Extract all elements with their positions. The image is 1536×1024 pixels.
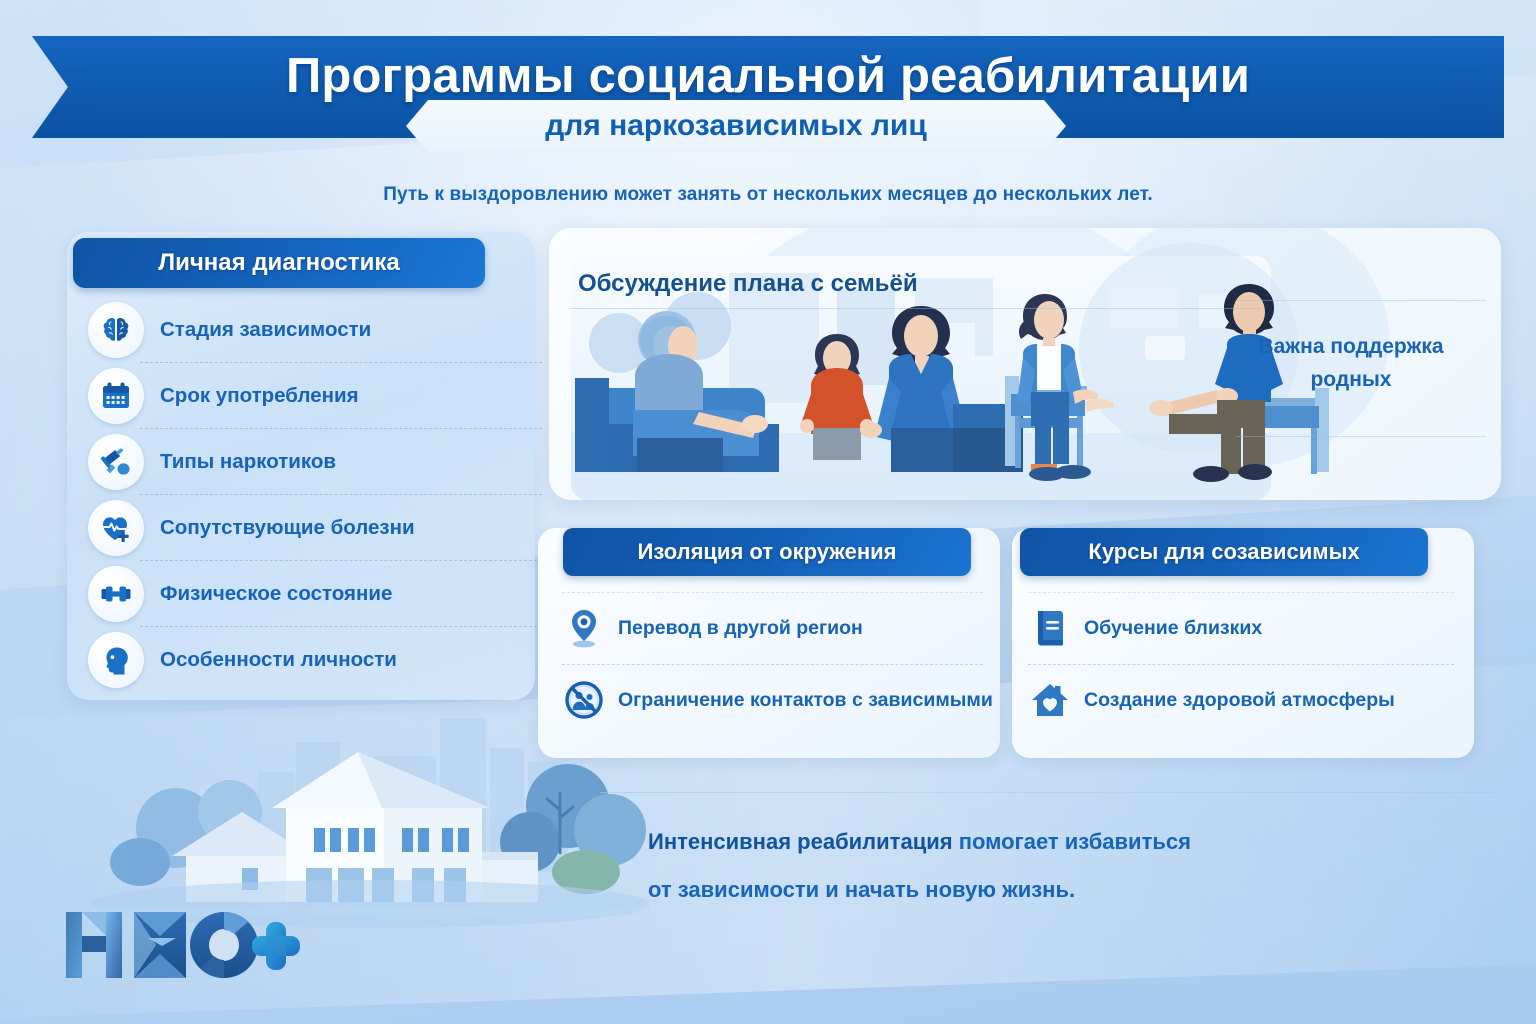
list-item[interactable]: Стадия зависимости — [88, 297, 526, 363]
hero-title-rule — [570, 308, 1260, 309]
syringe-icon — [88, 434, 144, 490]
list-item-label: Типы наркотиков — [160, 450, 336, 474]
dumbbell-icon — [88, 566, 144, 622]
calendar-icon — [88, 368, 144, 424]
brain-icon — [88, 302, 144, 358]
hero-side-rule-bottom — [1236, 436, 1486, 437]
diagnostics-list: Стадия зависимости Срок употребле — [88, 297, 526, 693]
list-item-label: Особенности личности — [160, 648, 397, 672]
hero-side-text: Важна поддержка родных — [1236, 330, 1466, 396]
footer-statement: Интенсивная реабилитация помогает избави… — [648, 818, 1408, 914]
footer-line1-rest: помогает избавиться — [953, 829, 1191, 854]
personal-diagnostics-badge-label: Личная диагностика — [73, 238, 485, 288]
book-icon — [1028, 606, 1072, 650]
home-heart-icon — [1028, 678, 1072, 722]
head-profile-icon — [88, 632, 144, 688]
infographic-poster: Программы социальной реабилитации для на… — [0, 0, 1536, 1024]
list-item-label: Срок употребления — [160, 384, 359, 408]
footer-rule — [600, 792, 1500, 793]
list-item-label: Обучение близких — [1084, 617, 1262, 640]
list-item-label: Сопутствующие болезни — [160, 516, 415, 540]
isolation-badge-label: Изоляция от окружения — [563, 528, 971, 576]
list-item[interactable]: Срок употребления — [88, 363, 526, 429]
list-item[interactable]: Сопутствующие болезни — [88, 495, 526, 561]
intro-text: Путь к выздоровлению может занять от нес… — [0, 184, 1536, 206]
list-item-label: Ограничение контактов с зависимыми — [618, 689, 993, 712]
list-item-label: Стадия зависимости — [160, 318, 371, 342]
list-item[interactable]: Создание здоровой атмосферы — [1028, 664, 1458, 736]
list-item-label: Создание здоровой атмосферы — [1084, 689, 1395, 712]
courses-list: Обучение близких Создание здоровой атмос… — [1028, 592, 1458, 736]
list-item-label: Физическое состояние — [160, 582, 392, 606]
footer-bold-phrase: Интенсивная реабилитация — [648, 829, 953, 854]
list-item-label: Перевод в другой регион — [618, 617, 863, 640]
list-item[interactable]: Обучение близких — [1028, 592, 1458, 664]
footer-line2: от зависимости и начать новую жизнь. — [648, 866, 1408, 914]
list-item[interactable]: Перевод в другой регион — [562, 592, 987, 664]
hero-title: Обсуждение плана с семьёй — [578, 270, 918, 298]
courses-badge-label: Курсы для созависимых — [1020, 528, 1428, 576]
list-item[interactable]: Особенности личности — [88, 627, 526, 693]
logo-neo-plus[interactable] — [62, 906, 302, 984]
list-item[interactable]: Типы наркотиков — [88, 429, 526, 495]
location-pin-icon — [562, 606, 606, 650]
rehab-house-illustration — [90, 700, 650, 930]
list-item[interactable]: Физическое состояние — [88, 561, 526, 627]
hero-side-rule-top — [1236, 300, 1486, 301]
heart-plus-icon — [88, 500, 144, 556]
page-subtitle: для наркозависимых лиц — [406, 100, 1066, 152]
